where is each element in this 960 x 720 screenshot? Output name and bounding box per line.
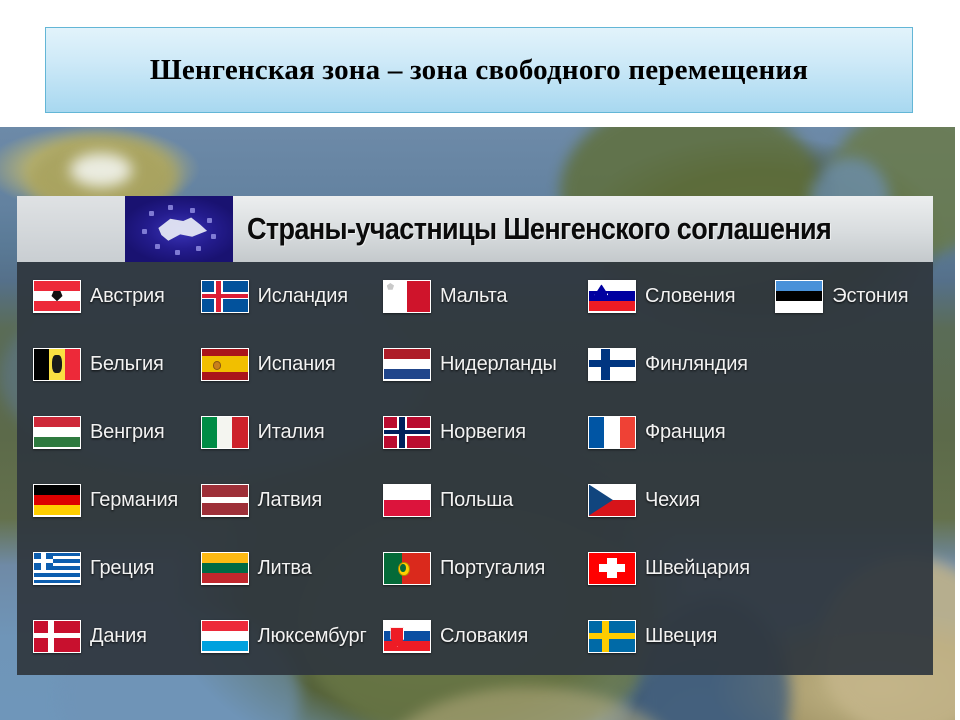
country-entry[interactable]: Нидерланды — [383, 330, 588, 398]
flag-gr-icon — [33, 552, 81, 585]
country-entry[interactable]: Франция — [588, 398, 775, 466]
country-name: Германия — [90, 489, 178, 512]
country-entry[interactable]: Бельгия — [33, 330, 201, 398]
table-row: БельгияИспанияНидерландыФинляндия — [17, 330, 933, 398]
country-name: Швейцария — [645, 557, 750, 580]
europe-map-stars-icon — [125, 196, 233, 262]
country-entry[interactable]: Португалия — [383, 534, 588, 602]
country-name: Словения — [645, 285, 735, 308]
country-name: Венгрия — [90, 421, 165, 444]
map-glacier-icon — [70, 153, 132, 187]
flag-lv-icon — [201, 484, 249, 517]
country-entry[interactable]: Германия — [33, 466, 201, 534]
country-name: Чехия — [645, 489, 700, 512]
country-name: Нидерланды — [440, 353, 557, 376]
country-name: Испания — [258, 353, 336, 376]
country-entry[interactable]: Австрия — [33, 262, 201, 330]
flag-es-icon — [201, 348, 249, 381]
flag-sk-icon — [383, 620, 431, 653]
country-entry[interactable]: Исландия — [201, 262, 383, 330]
country-name: Польша — [440, 489, 513, 512]
country-name: Италия — [258, 421, 325, 444]
country-name: Финляндия — [645, 353, 748, 376]
empty-cell — [775, 602, 933, 670]
country-name: Норвегия — [440, 421, 526, 444]
flag-dk-icon — [33, 620, 81, 653]
table-header-title-cell: Страны-участницы Шенгенского соглашения — [233, 196, 933, 262]
country-entry[interactable]: Чехия — [588, 466, 775, 534]
country-name: Исландия — [258, 285, 348, 308]
country-name: Португалия — [440, 557, 545, 580]
flag-it-icon — [201, 416, 249, 449]
country-entry[interactable]: Швейцария — [588, 534, 775, 602]
country-name: Бельгия — [90, 353, 164, 376]
country-name: Франция — [645, 421, 726, 444]
country-entry[interactable]: Латвия — [201, 466, 383, 534]
country-entry[interactable]: Словения — [588, 262, 775, 330]
page-title: Шенгенская зона – зона свободного переме… — [150, 54, 808, 87]
country-entry[interactable]: Литва — [201, 534, 383, 602]
country-name: Словакия — [440, 625, 528, 648]
country-entry[interactable]: Греция — [33, 534, 201, 602]
europe-outline-shape — [157, 216, 207, 245]
country-name: Швеция — [645, 625, 717, 648]
flag-pt-icon — [383, 552, 431, 585]
table-row: ГерманияЛатвияПольшаЧехия — [17, 466, 933, 534]
country-name: Эстония — [832, 285, 908, 308]
flag-at-icon — [33, 280, 81, 313]
header-spacer — [17, 196, 125, 262]
slide-root: Шенгенская зона – зона свободного переме… — [0, 0, 960, 720]
flag-fi-icon — [588, 348, 636, 381]
schengen-countries-panel: Страны-участницы Шенгенского соглашения … — [17, 196, 933, 675]
country-entry[interactable]: Польша — [383, 466, 588, 534]
flag-nl-icon — [383, 348, 431, 381]
table-header-title: Страны-участницы Шенгенского соглашения — [247, 212, 831, 247]
country-name: Люксембург — [258, 625, 367, 648]
flag-ee-icon — [775, 280, 823, 313]
empty-cell — [775, 466, 933, 534]
flag-fr-icon — [588, 416, 636, 449]
flag-mt-icon — [383, 280, 431, 313]
country-name: Литва — [258, 557, 312, 580]
flag-lu-icon — [201, 620, 249, 653]
country-entry[interactable]: Эстония — [775, 262, 933, 330]
country-name: Дания — [90, 625, 147, 648]
country-entry[interactable]: Италия — [201, 398, 383, 466]
country-entry[interactable]: Люксембург — [201, 602, 383, 670]
flag-is-icon — [201, 280, 249, 313]
slide-title-banner: Шенгенская зона – зона свободного переме… — [45, 27, 913, 113]
flag-cz-icon — [588, 484, 636, 517]
country-entry[interactable]: Венгрия — [33, 398, 201, 466]
empty-cell — [775, 398, 933, 466]
flag-si-icon — [588, 280, 636, 313]
country-name: Мальта — [440, 285, 507, 308]
country-entry[interactable]: Норвегия — [383, 398, 588, 466]
flag-lt-icon — [201, 552, 249, 585]
country-entry[interactable]: Дания — [33, 602, 201, 670]
empty-cell — [775, 330, 933, 398]
flag-no-icon — [383, 416, 431, 449]
flag-de-icon — [33, 484, 81, 517]
country-name: Австрия — [90, 285, 165, 308]
flag-pl-icon — [383, 484, 431, 517]
flag-be-icon — [33, 348, 81, 381]
table-header: Страны-участницы Шенгенского соглашения — [17, 196, 933, 262]
country-entry[interactable]: Испания — [201, 330, 383, 398]
country-name: Латвия — [258, 489, 322, 512]
country-entry[interactable]: Финляндия — [588, 330, 775, 398]
country-name: Греция — [90, 557, 154, 580]
flag-hu-icon — [33, 416, 81, 449]
country-rows: АвстрияИсландияМальтаСловенияЭстонияБель… — [17, 262, 933, 670]
empty-cell — [775, 534, 933, 602]
country-entry[interactable]: Мальта — [383, 262, 588, 330]
table-row: ГрецияЛитваПортугалияШвейцария — [17, 534, 933, 602]
table-row: ДанияЛюксембургСловакияШвеция — [17, 602, 933, 670]
table-row: АвстрияИсландияМальтаСловенияЭстония — [17, 262, 933, 330]
flag-ch-icon — [588, 552, 636, 585]
flag-se-icon — [588, 620, 636, 653]
country-entry[interactable]: Словакия — [383, 602, 588, 670]
table-row: ВенгрияИталияНорвегияФранция — [17, 398, 933, 466]
country-entry[interactable]: Швеция — [588, 602, 775, 670]
